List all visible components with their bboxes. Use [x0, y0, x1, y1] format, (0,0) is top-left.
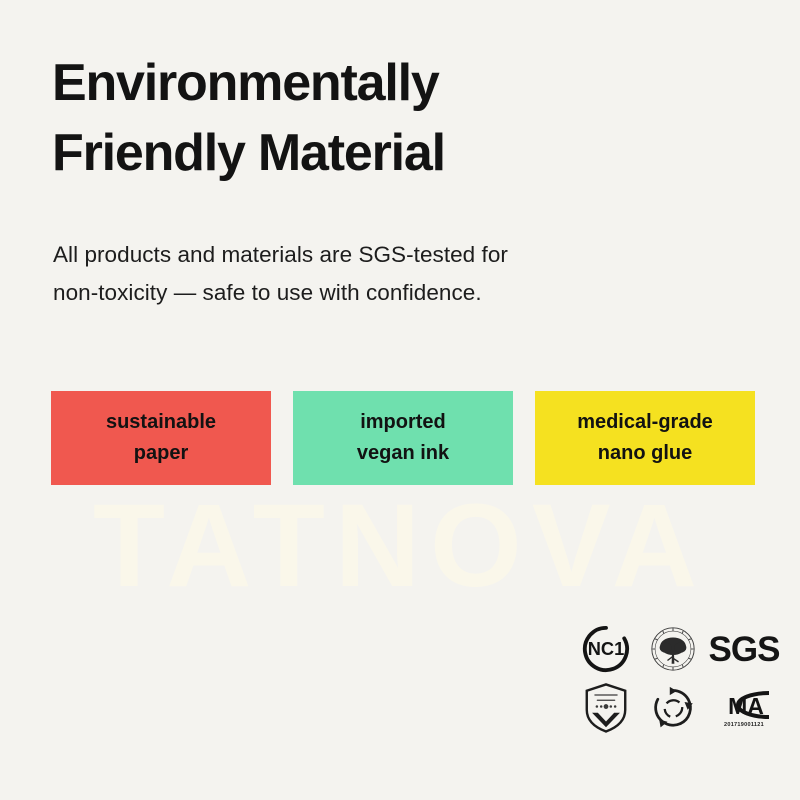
material-chip-medical-grade-nano-glue: medical-grade nano glue	[535, 391, 755, 485]
material-chip-sustainable-paper: sustainable paper	[51, 391, 271, 485]
chip-label-line-2: paper	[134, 438, 188, 469]
sgs-icon: SGS	[705, 632, 783, 667]
chip-label-line-2: vegan ink	[357, 438, 449, 469]
tree-seal-icon	[641, 626, 705, 672]
chip-label-line-2: nano glue	[598, 438, 692, 469]
certification-row-bottom: MA 201719001121	[571, 679, 783, 737]
svg-text:MA: MA	[728, 693, 764, 719]
page-subtitle-line-1: All products and materials are SGS-teste…	[53, 236, 693, 274]
page-title-line-1: Environmentally	[52, 48, 752, 118]
recycling-icon	[641, 685, 705, 731]
page-title: Environmentally Friendly Material	[52, 48, 752, 188]
certification-badge-group: NC1	[571, 621, 783, 737]
page-subtitle-line-2: non-toxicity — safe to use with confiden…	[53, 274, 693, 312]
chip-label-line-1: medical-grade	[577, 407, 713, 438]
cma-code-label: 201719001121	[724, 723, 764, 729]
material-chip-imported-vegan-ink: imported vegan ink	[293, 391, 513, 485]
chip-label-line-1: imported	[360, 407, 446, 438]
sgs-label: SGS	[709, 632, 780, 667]
chip-label-line-1: sustainable	[106, 407, 216, 438]
cma-icon: MA 201719001121	[705, 688, 783, 729]
page-subtitle: All products and materials are SGS-teste…	[53, 236, 693, 312]
material-chip-list: sustainable paper imported vegan ink med…	[51, 391, 755, 485]
shield-icon	[571, 683, 641, 733]
nc1-icon: NC1	[571, 625, 641, 673]
page-title-line-2: Friendly Material	[52, 118, 752, 188]
certification-row-top: NC1	[571, 621, 783, 677]
poster-canvas: TATNOVA Environmentally Friendly Materia…	[0, 0, 800, 800]
brand-watermark: TATNOVA	[0, 487, 800, 605]
svg-text:NC1: NC1	[588, 638, 624, 659]
